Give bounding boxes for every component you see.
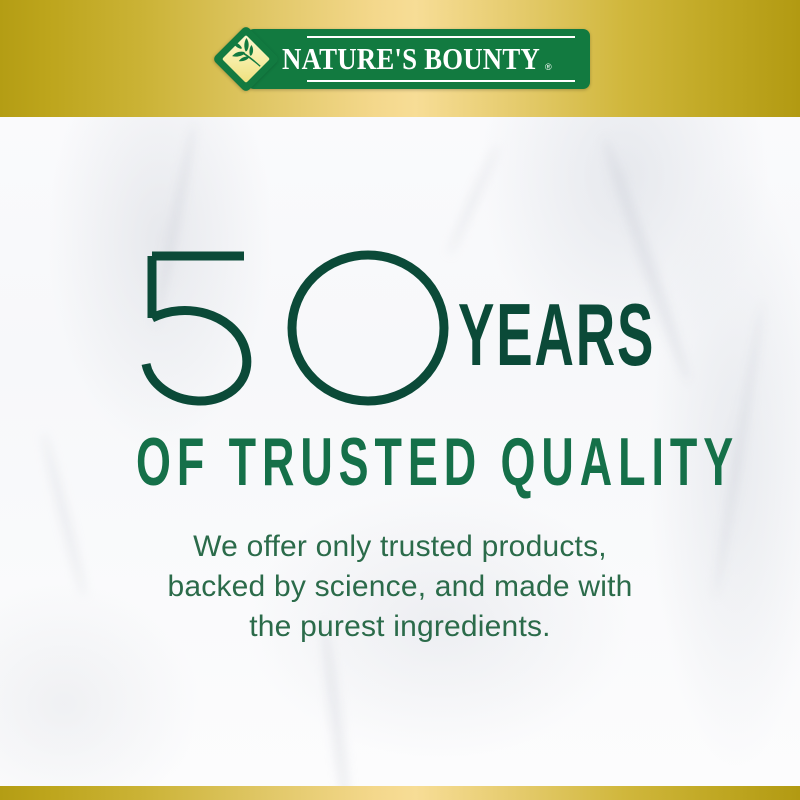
marble-vein <box>446 144 501 256</box>
hero-number-50 <box>140 246 460 406</box>
marble-vein <box>40 432 89 599</box>
brand-logo[interactable]: NATURE'S BOUNTY ® <box>222 29 590 89</box>
logo-rule-top <box>307 36 575 38</box>
body-copy: We offer only trusted products, backed b… <box>120 527 680 647</box>
registered-trademark: ® <box>545 62 552 72</box>
hero-subheadline: OF TRUSTED QUALITY <box>136 428 664 496</box>
logo-rule-bottom <box>307 80 575 82</box>
brand-wordmark: NATURE'S BOUNTY ® <box>282 40 558 78</box>
marble-vein <box>318 620 352 800</box>
body-line: We offer only trusted products, <box>120 527 680 567</box>
promo-banner: NATURE'S BOUNTY ® YEARS OF TRUSTED QUALI… <box>0 0 800 800</box>
body-line: the purest ingredients. <box>120 607 680 647</box>
bottom-gold-bar <box>0 786 800 800</box>
hero-years-label: YEARS <box>458 291 655 379</box>
brand-name-text: NATURE'S BOUNTY <box>282 41 540 76</box>
body-line: backed by science, and made with <box>120 567 680 607</box>
